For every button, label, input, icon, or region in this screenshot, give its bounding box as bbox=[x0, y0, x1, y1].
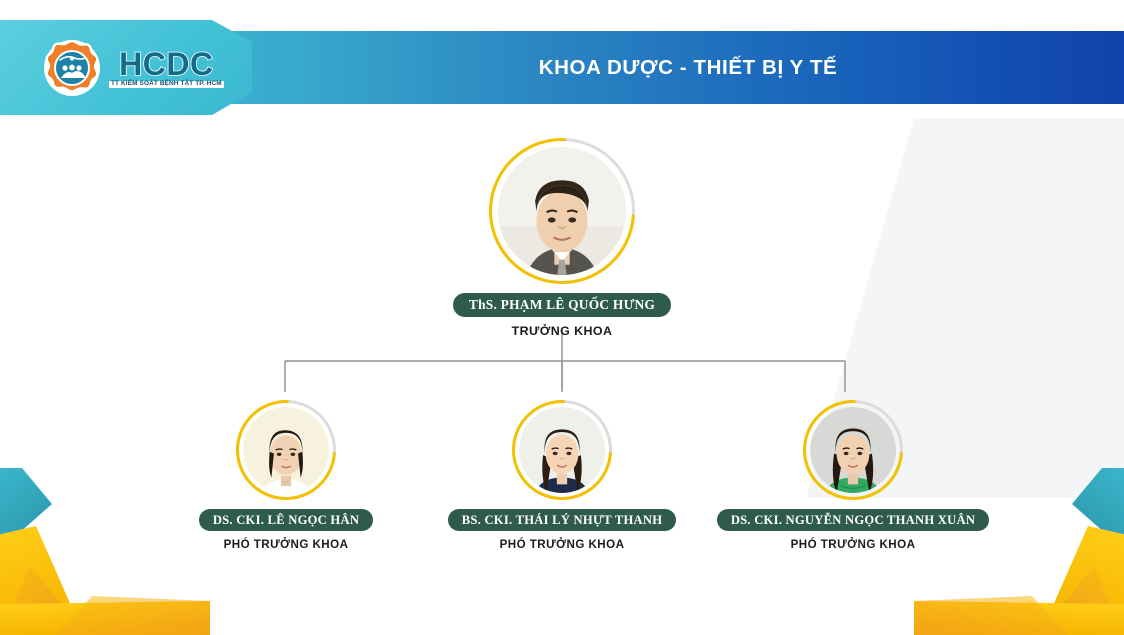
hcdc-seal-icon bbox=[42, 38, 102, 98]
avatar bbox=[803, 400, 903, 500]
person-name: DS. CKI. NGUYỄN NGỌC THANH XUÂN bbox=[717, 509, 989, 531]
person-role: PHÓ TRƯỞNG KHOA bbox=[224, 538, 349, 551]
decoration-bottom-left bbox=[0, 468, 210, 635]
logo-subtitle: TT KIỂM SOÁT BỆNH TẬT TP. HCM bbox=[109, 81, 224, 88]
person-role: PHÓ TRƯỞNG KHOA bbox=[500, 538, 625, 551]
avatar bbox=[236, 400, 336, 500]
logo-text: HCDC bbox=[119, 48, 213, 80]
avatar bbox=[512, 400, 612, 500]
portrait-photo-deputy-3 bbox=[810, 407, 896, 493]
avatar bbox=[489, 138, 635, 284]
page-title: KHOA DƯỢC - THIẾT BỊ Y TẾ bbox=[252, 31, 1124, 104]
org-chart-slide: KHOA DƯỢC - THIẾT BỊ Y TẾ H bbox=[0, 0, 1124, 635]
org-node-deputy-2[interactable]: BS. CKI. THÁI LÝ NHỰT THANH PHÓ TRƯỞNG K… bbox=[456, 400, 668, 551]
org-node-head[interactable]: ThS. PHẠM LÊ QUỐC HƯNG TRƯỞNG KHOA bbox=[417, 138, 707, 338]
hcdc-wordmark: HCDC TT KIỂM SOÁT BỆNH TẬT TP. HCM bbox=[109, 48, 224, 88]
org-node-deputy-3[interactable]: DS. CKI. NGUYỄN NGỌC THANH XUÂN PHÓ TRƯỞ… bbox=[747, 400, 959, 551]
portrait-photo-deputy-2 bbox=[519, 407, 605, 493]
portrait-photo-deputy-1 bbox=[243, 407, 329, 493]
person-name: ThS. PHẠM LÊ QUỐC HƯNG bbox=[453, 293, 671, 317]
org-node-deputy-1[interactable]: DS. CKI. LÊ NGỌC HÂN PHÓ TRƯỞNG KHOA bbox=[180, 400, 392, 551]
person-name: BS. CKI. THÁI LÝ NHỰT THANH bbox=[448, 509, 676, 531]
hcdc-logo: HCDC TT KIỂM SOÁT BỆNH TẬT TP. HCM bbox=[42, 36, 232, 100]
person-name: DS. CKI. LÊ NGỌC HÂN bbox=[199, 509, 373, 531]
person-role: TRƯỞNG KHOA bbox=[512, 324, 613, 338]
person-role: PHÓ TRƯỞNG KHOA bbox=[791, 538, 916, 551]
portrait-photo-head bbox=[498, 147, 626, 275]
